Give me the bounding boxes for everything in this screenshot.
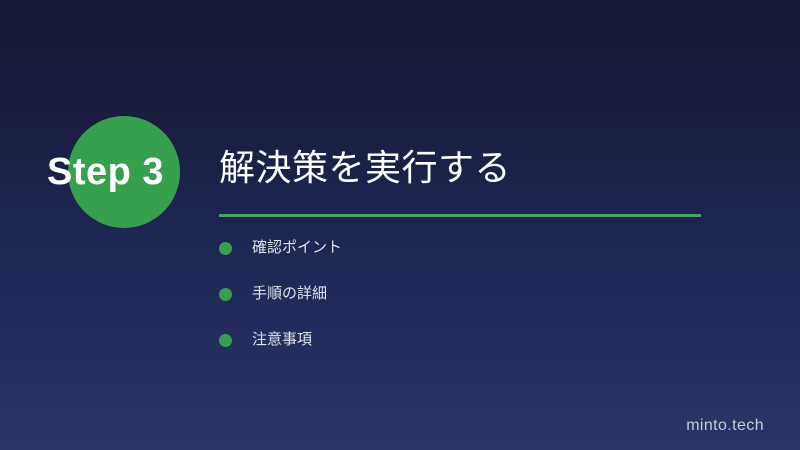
footer-brand: minto.tech (686, 416, 764, 436)
slide-title: 解決策を実行する (219, 142, 719, 194)
list-item-label: 注意事項 (252, 330, 312, 350)
bullet-dot-icon (219, 242, 232, 255)
bullet-dot-icon (219, 334, 232, 347)
heading-block: 解決策を実行する (219, 142, 719, 217)
slide-canvas: Step 3 解決策を実行する 確認ポイント 手順の詳細 注意事項 minto.… (0, 0, 800, 450)
title-divider (219, 214, 701, 217)
list-item: 注意事項 (219, 330, 342, 350)
list-item: 手順の詳細 (219, 284, 342, 304)
list-item-label: 確認ポイント (252, 238, 342, 258)
step-badge-label: Step 3 (47, 148, 207, 196)
list-item: 確認ポイント (219, 238, 342, 258)
list-item-label: 手順の詳細 (252, 284, 327, 304)
bullet-dot-icon (219, 288, 232, 301)
bullet-list: 確認ポイント 手順の詳細 注意事項 (219, 238, 342, 376)
